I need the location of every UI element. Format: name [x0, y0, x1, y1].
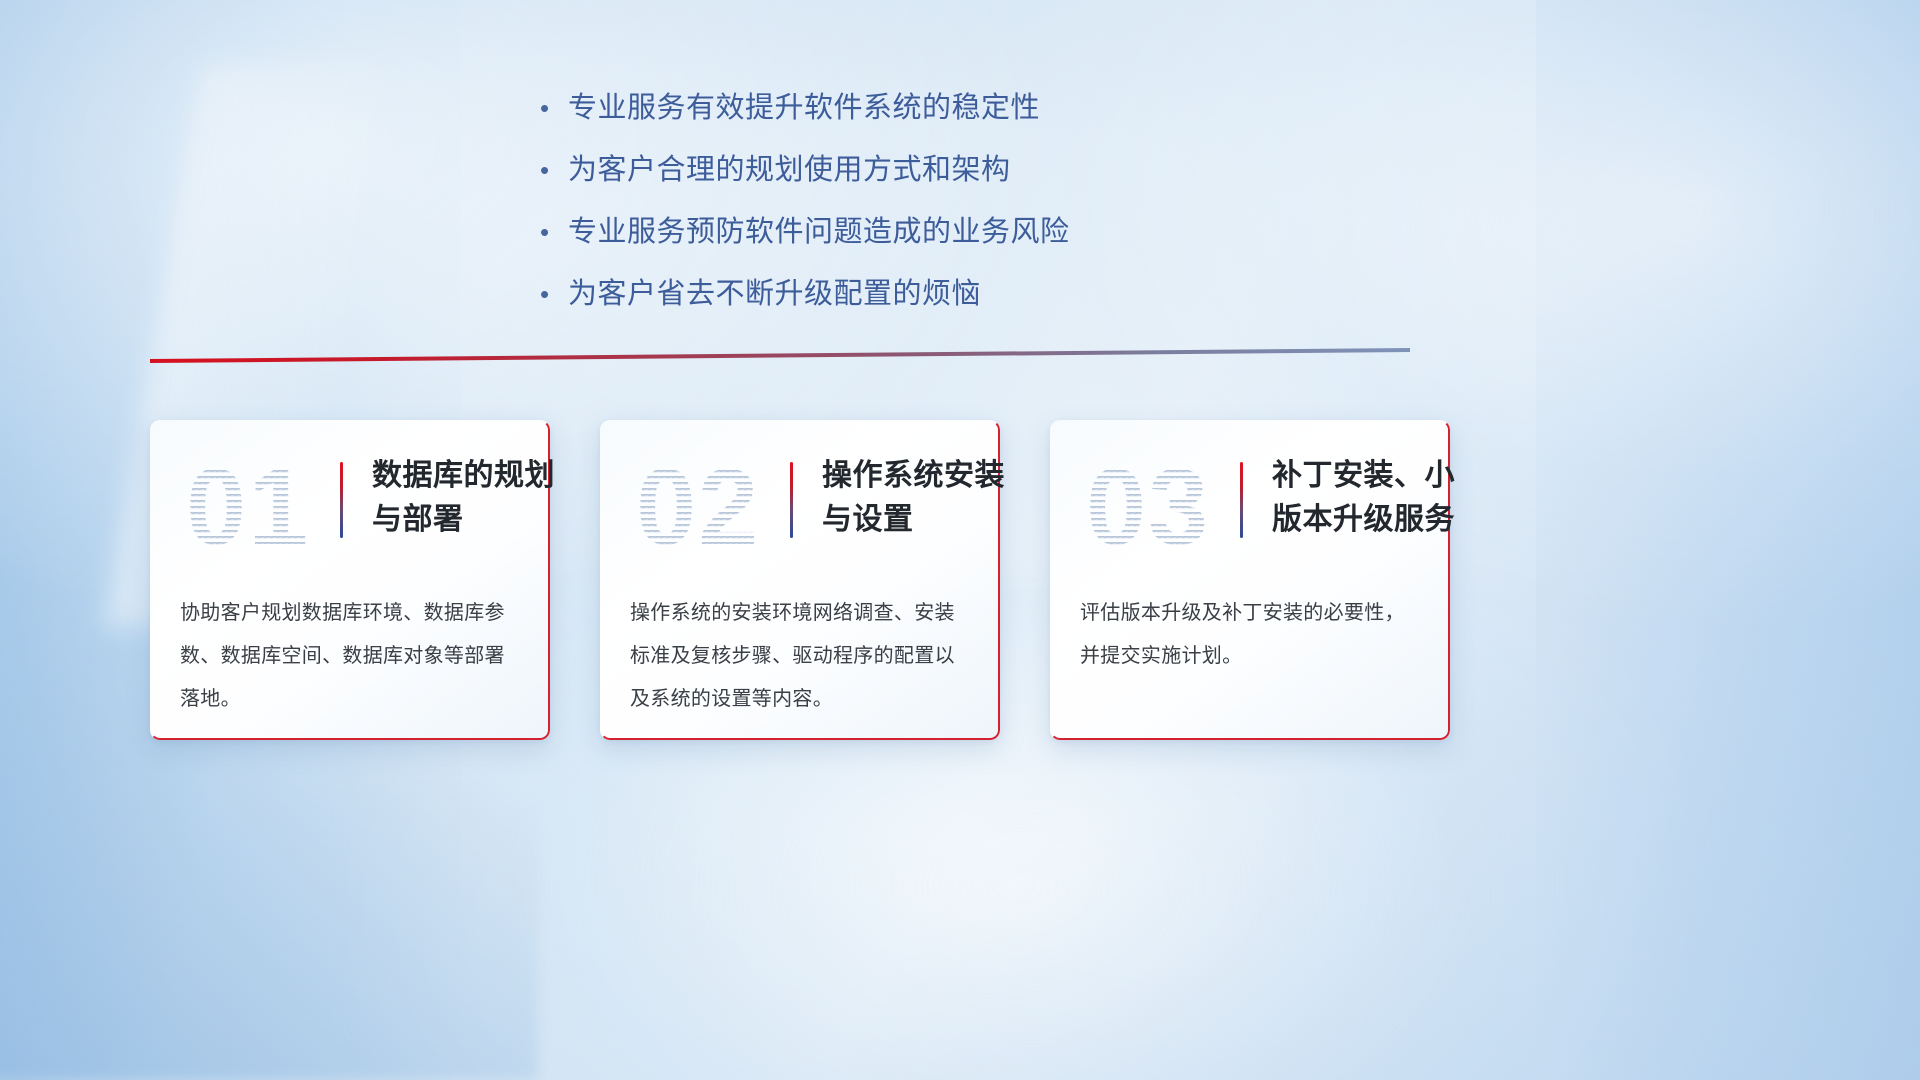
card-number-watermark-02: 02 [636, 452, 776, 562]
bullet-text: 为客户合理的规划使用方式和架构 [568, 150, 1011, 190]
card-title: 操作系统安装与设置 [822, 454, 1030, 542]
bullet-point-icon: • [540, 88, 568, 128]
card-header: 02 操作系统安装与设置 [630, 448, 970, 566]
service-card-02[interactable]: 02 操作系统安装与设置 操作系统的安装环境网络调查、安装标准及复核步骤、驱动程… [600, 420, 1000, 740]
list-item: • 专业服务有效提升软件系统的稳定性 [540, 88, 1160, 128]
card-description: 协助客户规划数据库环境、数据库参数、数据库空间、数据库对象等部署落地。 [180, 592, 520, 721]
section-divider [150, 348, 1410, 366]
list-item: • 为客户省去不断升级配置的烦恼 [540, 274, 1160, 314]
bullet-point-icon: • [540, 150, 568, 190]
card-header: 01 数据库的规划与部署 [180, 448, 520, 566]
card-accent-rule [340, 462, 343, 538]
card-number-watermark-03: 03 [1086, 452, 1226, 562]
service-card-01[interactable]: 01 数据库的规划与部署 协助客户规划数据库环境、数据库参数、数据库空间、数据库… [150, 420, 550, 740]
card-accent-rule [790, 462, 793, 538]
list-item: • 为客户合理的规划使用方式和架构 [540, 150, 1160, 190]
list-item: • 专业服务预防软件问题造成的业务风险 [540, 212, 1160, 252]
card-number-watermark-01: 01 [186, 452, 326, 562]
service-card-03[interactable]: 03 补丁安装、小版本升级服务 评估版本升级及补丁安装的必要性，并提交实施计划。 [1050, 420, 1450, 740]
card-description: 评估版本升级及补丁安装的必要性，并提交实施计划。 [1080, 592, 1420, 678]
service-cards: 01 数据库的规划与部署 协助客户规划数据库环境、数据库参数、数据库空间、数据库… [150, 420, 1450, 745]
bullet-point-icon: • [540, 212, 568, 252]
card-title: 补丁安装、小版本升级服务 [1272, 454, 1480, 542]
bullet-point-icon: • [540, 274, 568, 314]
benefits-bullet-list: • 专业服务有效提升软件系统的稳定性 • 为客户合理的规划使用方式和架构 • 专… [540, 88, 1160, 336]
card-header: 03 补丁安装、小版本升级服务 [1080, 448, 1420, 566]
bullet-text: 专业服务预防软件问题造成的业务风险 [568, 212, 1070, 252]
card-accent-rule [1240, 462, 1243, 538]
card-description: 操作系统的安装环境网络调查、安装标准及复核步骤、驱动程序的配置以及系统的设置等内… [630, 592, 970, 721]
bullet-text: 为客户省去不断升级配置的烦恼 [568, 274, 981, 314]
card-title: 数据库的规划与部署 [372, 454, 580, 542]
bullet-text: 专业服务有效提升软件系统的稳定性 [568, 88, 1040, 128]
